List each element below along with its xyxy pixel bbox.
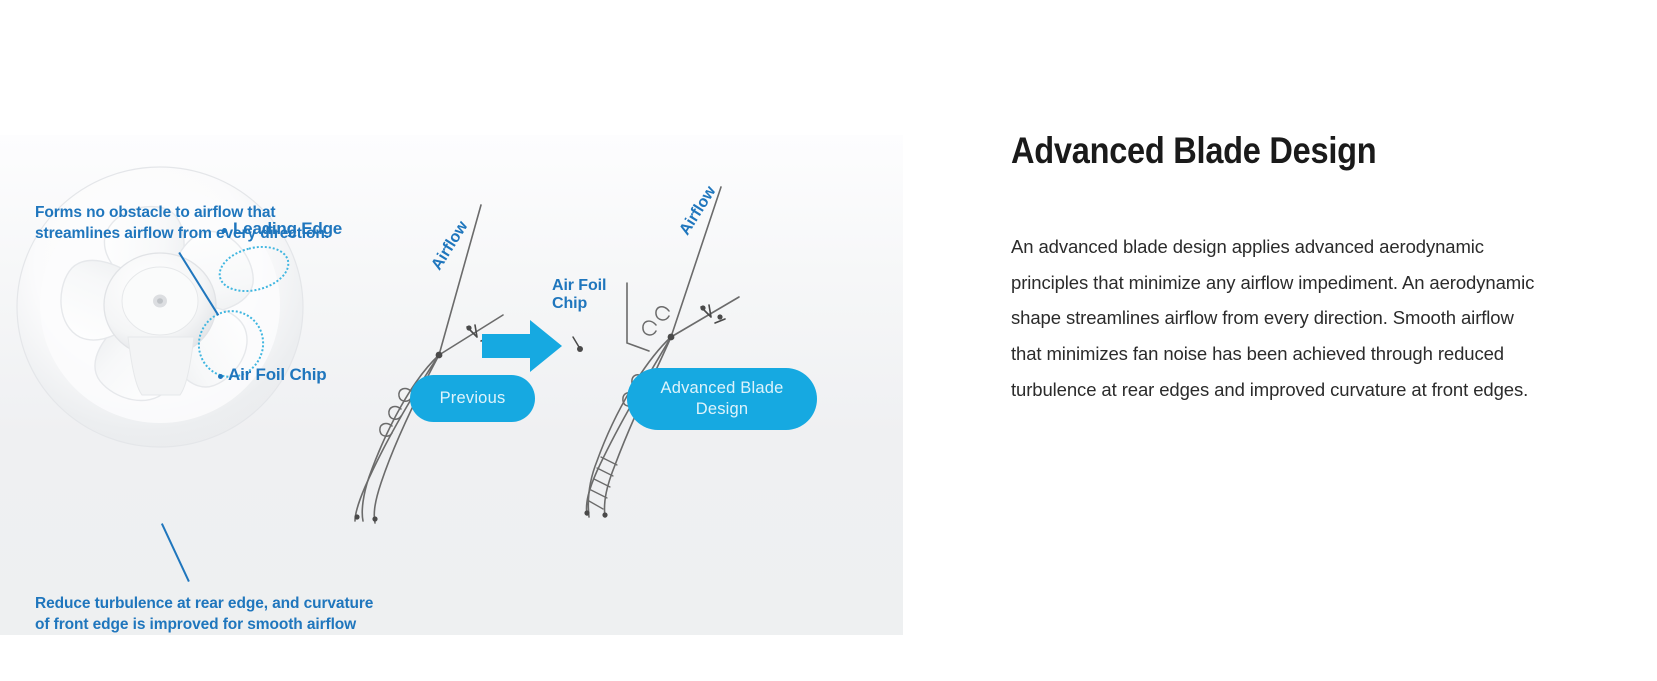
advanced-blade-design-pill-label: Advanced Blade Design <box>627 368 817 430</box>
page-title: Advanced Blade Design <box>1011 130 1486 172</box>
advanced-blade-cross-section <box>545 165 775 525</box>
air-foil-chip-leader-dot <box>218 374 223 379</box>
bottom-callout-line-1: Reduce turbulence at rear edge, and curv… <box>35 593 495 614</box>
bottom-callout-text: Reduce turbulence at rear edge, and curv… <box>35 593 495 635</box>
bottom-callout-line-2: of front edge is improved for smooth air… <box>35 614 495 635</box>
previous-pill-label: Previous <box>410 375 535 422</box>
content-column: Advanced Blade Design An advanced blade … <box>1011 130 1551 408</box>
bottom-callout-leader-line <box>161 523 190 582</box>
air-foil-chip-label: Air Foil Chip <box>228 365 326 385</box>
fan-impeller-illustration <box>8 155 318 455</box>
advanced-blade-design-diagram: Leading Edge Air Foil Chip Forms no obst… <box>0 135 903 635</box>
body-paragraph: An advanced blade design applies advance… <box>1011 172 1539 408</box>
